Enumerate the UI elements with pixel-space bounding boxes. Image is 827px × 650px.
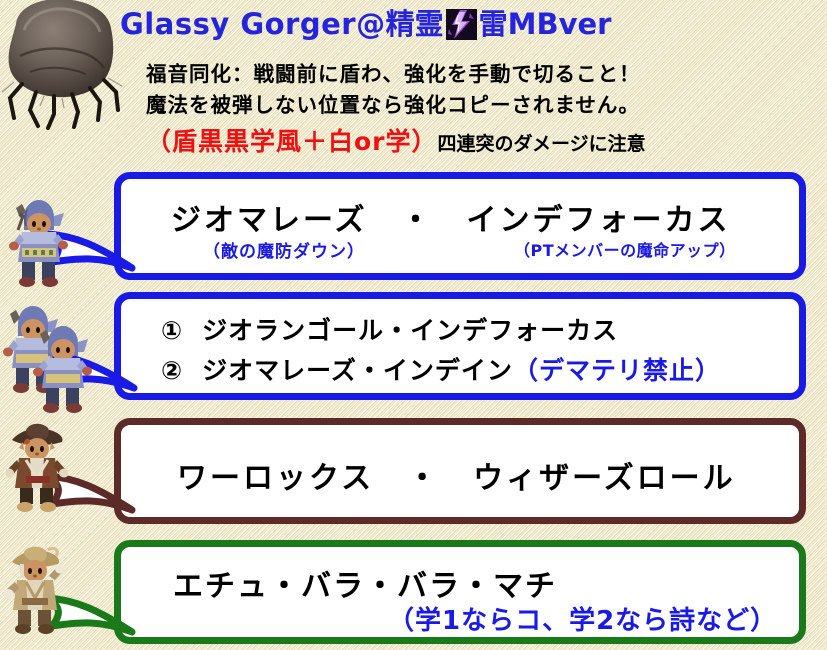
- note-line-3: （盾黒黒学風＋白or学）四連突のダメージに注意: [146, 122, 646, 158]
- bubble-2-row-2-number: ②: [161, 356, 182, 385]
- avatar-geomancer-2b: [32, 322, 94, 414]
- bubble-geomancer-primary: ジオマレーズ ・ インデフォーカス （敵の魔防ダウン） （PTメンバーの魔命アッ…: [114, 172, 806, 280]
- page-title: Glassy Gorger@精霊 雷MBver: [120, 4, 611, 44]
- bubble-1-sub-right: （PTメンバーの魔命アップ）: [514, 237, 736, 261]
- bubble-bard-songs: エチュ・バラ・バラ・マチ （学1ならコ、学2なら詩など）: [114, 540, 806, 644]
- bubble-2-row-1-number: ①: [161, 316, 182, 345]
- note-line-1: 福音同化：戦闘前に盾わ、強化を手動で切ること！: [146, 57, 641, 87]
- bubble-2-row-2: ②ジオマレーズ・インデイン（デマテリ禁止）: [161, 351, 721, 387]
- bubble-2-row-2-text: ジオマレーズ・インデイン: [202, 356, 513, 385]
- bubble-3-main-text: ワーロックス ・ ウィザーズロール: [177, 453, 736, 497]
- bubble-2-row-1: ①ジオランゴール・インデフォーカス: [161, 311, 618, 347]
- bubble-1-sub-left: （敵の魔防ダウン）: [203, 237, 365, 262]
- bubble-2-row-1-text: ジオランゴール・インデフォーカス: [202, 316, 618, 345]
- avatar-geomancer-1: [8, 196, 70, 288]
- note-line-3-warning: 四連突のダメージに注意: [438, 133, 646, 155]
- note-line-3-party: （盾黒黒学風＋白or学）: [146, 127, 438, 156]
- thunder-icon: [446, 9, 477, 40]
- bubble-4-sub-right: （学1ならコ、学2なら詩など）: [388, 600, 777, 637]
- bubble-1-main-text: ジオマレーズ ・ インデフォーカス: [171, 195, 731, 239]
- bubble-2-row-2-restriction: （デマテリ禁止）: [513, 356, 721, 385]
- avatar-bard: [4, 542, 66, 634]
- gorger-monster-icon: [0, 0, 128, 131]
- bubble-corsair-rolls: ワーロックス ・ ウィザーズロール: [114, 418, 806, 524]
- bubble-geomancer-alternates: ①ジオランゴール・インデフォーカス ②ジオマレーズ・インデイン（デマテリ禁止）: [114, 292, 806, 400]
- title-english: Glassy Gorger@: [120, 7, 386, 41]
- infographic-page: Glassy Gorger@精霊 雷MBver 福音同化：戦闘前に盾わ、強化を手…: [0, 0, 827, 650]
- note-line-2: 魔法を被弾しない位置なら強化コピーされません。: [146, 88, 640, 118]
- avatar-corsair: [6, 420, 68, 512]
- title-japanese-1: 精霊: [386, 7, 444, 41]
- bubble-4-main-text: エチュ・バラ・バラ・マチ: [173, 561, 557, 605]
- title-japanese-2: 雷MBver: [479, 7, 612, 41]
